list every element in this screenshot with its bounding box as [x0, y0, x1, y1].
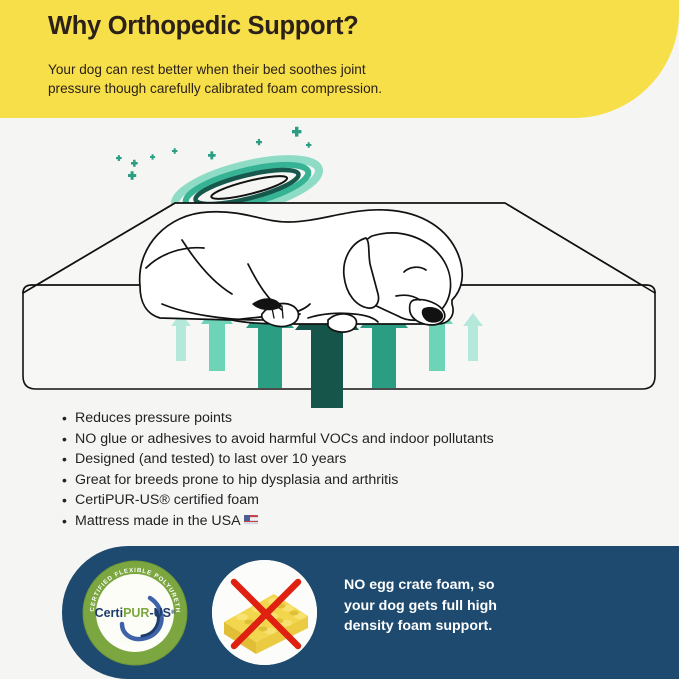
list-item-label: Great for breeds prone to hip dysplasia … — [75, 471, 642, 491]
list-item: • Mattress made in the USA — [62, 512, 642, 532]
us-flag-icon — [244, 515, 258, 525]
egg-crate-foam-prohibited — [212, 560, 317, 665]
bottom-text-line3: density foam support. — [344, 616, 644, 637]
list-item-label: CertiPUR-US® certified foam — [75, 491, 642, 511]
header-subtitle: Your dog can rest better when their bed … — [48, 60, 518, 98]
list-item-label: NO glue or adhesives to avoid harmful VO… — [75, 430, 642, 450]
bottom-text-line2: your dog gets full high — [344, 596, 644, 617]
list-item: • Designed (and tested) to last over 10 … — [62, 450, 642, 470]
infographic-page: Why Orthopedic Support? Your dog can res… — [0, 0, 679, 679]
bottom-text-line1: NO egg crate foam, so — [344, 575, 644, 596]
bullet-dot: • — [62, 491, 75, 511]
certipur-us-badge: CONTAINS CERTIFIED FLEXIBLE POLYURETHANE… — [80, 558, 190, 668]
list-item: • CertiPUR-US® certified foam — [62, 491, 642, 511]
list-item-label: Designed (and tested) to last over 10 ye… — [75, 450, 642, 470]
page-title: Why Orthopedic Support? — [48, 12, 358, 41]
list-item: • NO glue or adhesives to avoid harmful … — [62, 430, 642, 450]
header-banner: Why Orthopedic Support? Your dog can res… — [0, 0, 679, 118]
bullet-dot: • — [62, 471, 75, 491]
illustration-area — [0, 118, 679, 410]
bullet-dot: • — [62, 430, 75, 450]
bottom-panel: CONTAINS CERTIFIED FLEXIBLE POLYURETHANE… — [62, 546, 679, 679]
feature-list: • Reduces pressure points • NO glue or a… — [62, 409, 642, 533]
badge-wordmark: CertiPUR-US® — [95, 606, 176, 620]
header-subtitle-line2: pressure though carefully calibrated foa… — [48, 79, 518, 98]
header-subtitle-line1: Your dog can rest better when their bed … — [48, 60, 518, 79]
list-item-label: Reduces pressure points — [75, 409, 642, 429]
bullet-dot: • — [62, 409, 75, 429]
list-item: • Reduces pressure points — [62, 409, 642, 429]
bullet-dot: • — [62, 512, 75, 532]
no-egg-crate-message: NO egg crate foam, so your dog gets full… — [344, 575, 644, 637]
bullet-dot: • — [62, 450, 75, 470]
list-item: • Great for breeds prone to hip dysplasi… — [62, 471, 642, 491]
sleeping-dog — [140, 210, 463, 332]
list-item-label: Mattress made in the USA — [75, 513, 241, 529]
